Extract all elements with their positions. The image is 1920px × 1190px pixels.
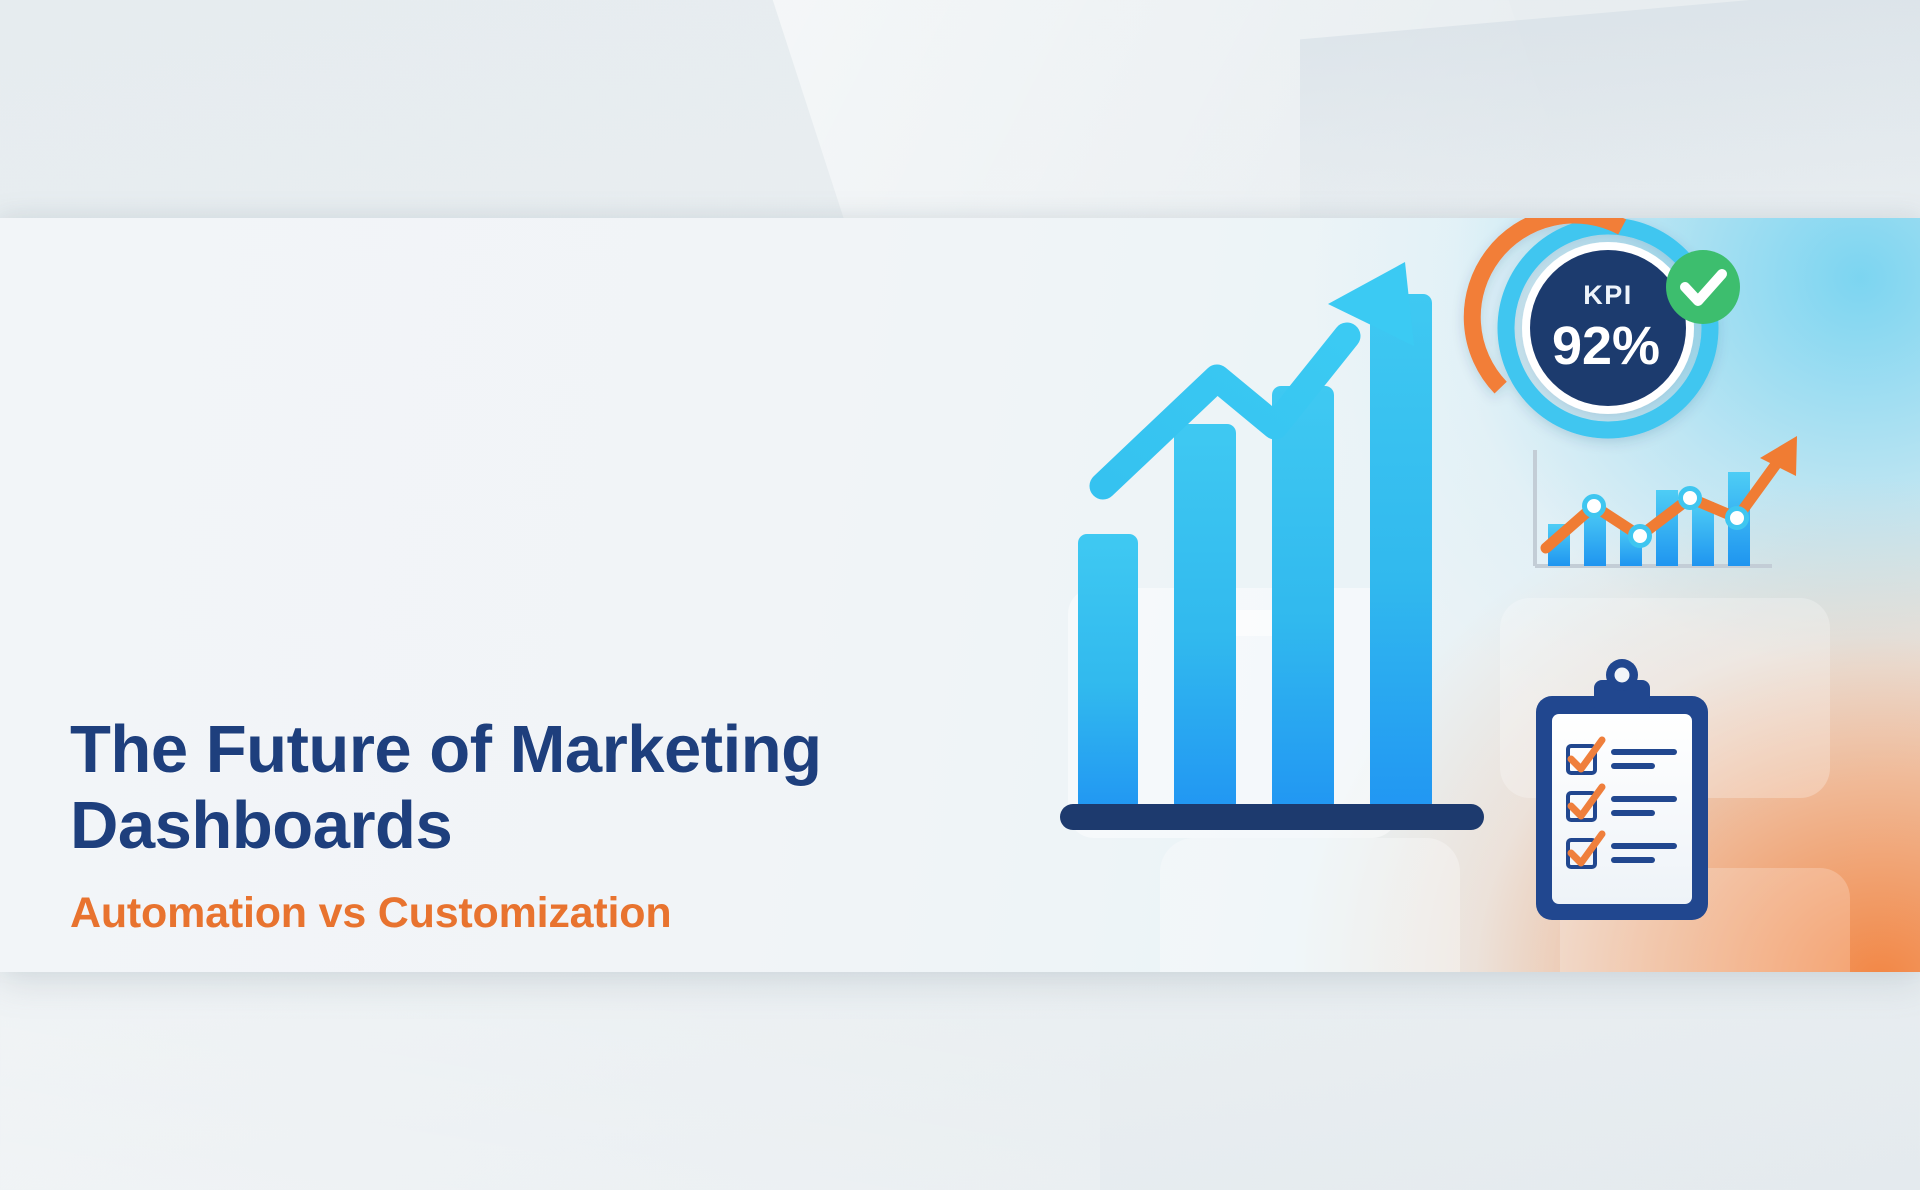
bar-4 [1370, 294, 1432, 812]
backdrop-facet-bottom [0, 950, 1100, 1190]
mini-analytics-chart-icon [1535, 436, 1797, 566]
kpi-label: KPI [1583, 280, 1633, 310]
mini-marker-4 [1728, 509, 1747, 528]
banner-illustration-svg: KPI 92% [0, 218, 1920, 972]
bar-1 [1078, 534, 1138, 812]
mini-marker-3 [1681, 489, 1700, 508]
banner-graphics: KPI 92% [0, 218, 1920, 972]
marketing-banner: The Future of Marketing Dashboards Autom… [0, 218, 1920, 972]
clipboard-checklist-icon [1536, 659, 1708, 920]
check-circle-icon [1666, 250, 1740, 324]
kpi-value: 92% [1552, 316, 1660, 376]
chart-baseline [1060, 804, 1484, 830]
trend-arrow-icon [1103, 262, 1414, 486]
growth-bar-chart-icon [1060, 262, 1484, 830]
mini-marker-1 [1585, 497, 1604, 516]
mini-marker-2 [1631, 527, 1650, 546]
bar-2 [1174, 424, 1236, 812]
bar-3 [1272, 386, 1334, 812]
